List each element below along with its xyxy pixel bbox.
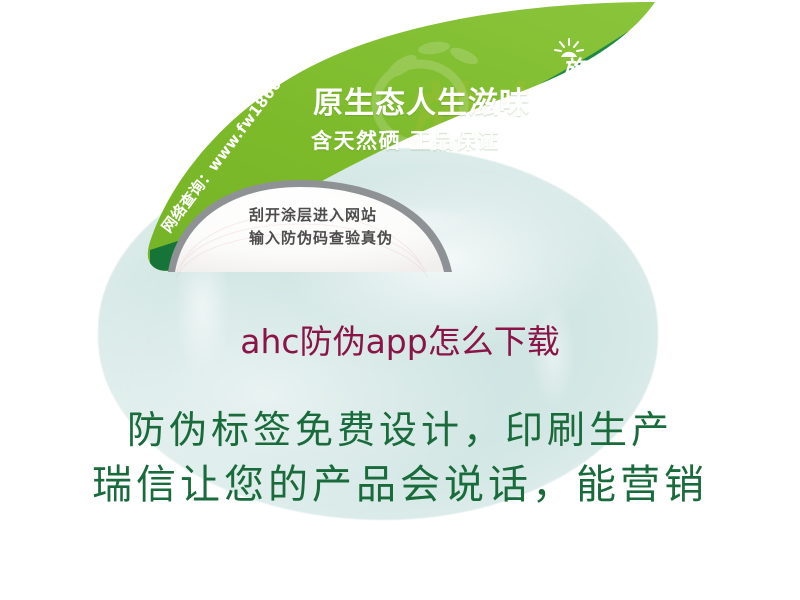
slogan-sub: 含天然硒 正品保证: [311, 125, 500, 155]
brand-logo: 施州: [552, 40, 630, 84]
scratch-instruction-line-1: 刮开涂层进入网站: [249, 204, 377, 225]
tagline-block: 防伪标签免费设计，印刷生产 瑞信让您的产品会说话，能营销: [0, 403, 800, 513]
headline-caption: ahc防伪app怎么下载: [0, 315, 800, 363]
slogan-main: 原生态人生滋味: [313, 78, 530, 122]
tagline-line-2: 瑞信让您的产品会说话，能营销: [0, 457, 800, 513]
image-canvas: 施州 原生态人生滋味 含天然硒 正品保证 网络查询：www.fw1860.co: [0, 0, 800, 600]
leaf-label-graphic: 施州 原生态人生滋味 含天然硒 正品保证 网络查询：www.fw1860.co: [0, 0, 800, 300]
tagline-line-1: 防伪标签免费设计，印刷生产: [0, 403, 800, 457]
brand-name: 施州: [562, 50, 614, 84]
scratch-instruction-line-2: 输入防伪码查验真伪: [249, 227, 393, 248]
